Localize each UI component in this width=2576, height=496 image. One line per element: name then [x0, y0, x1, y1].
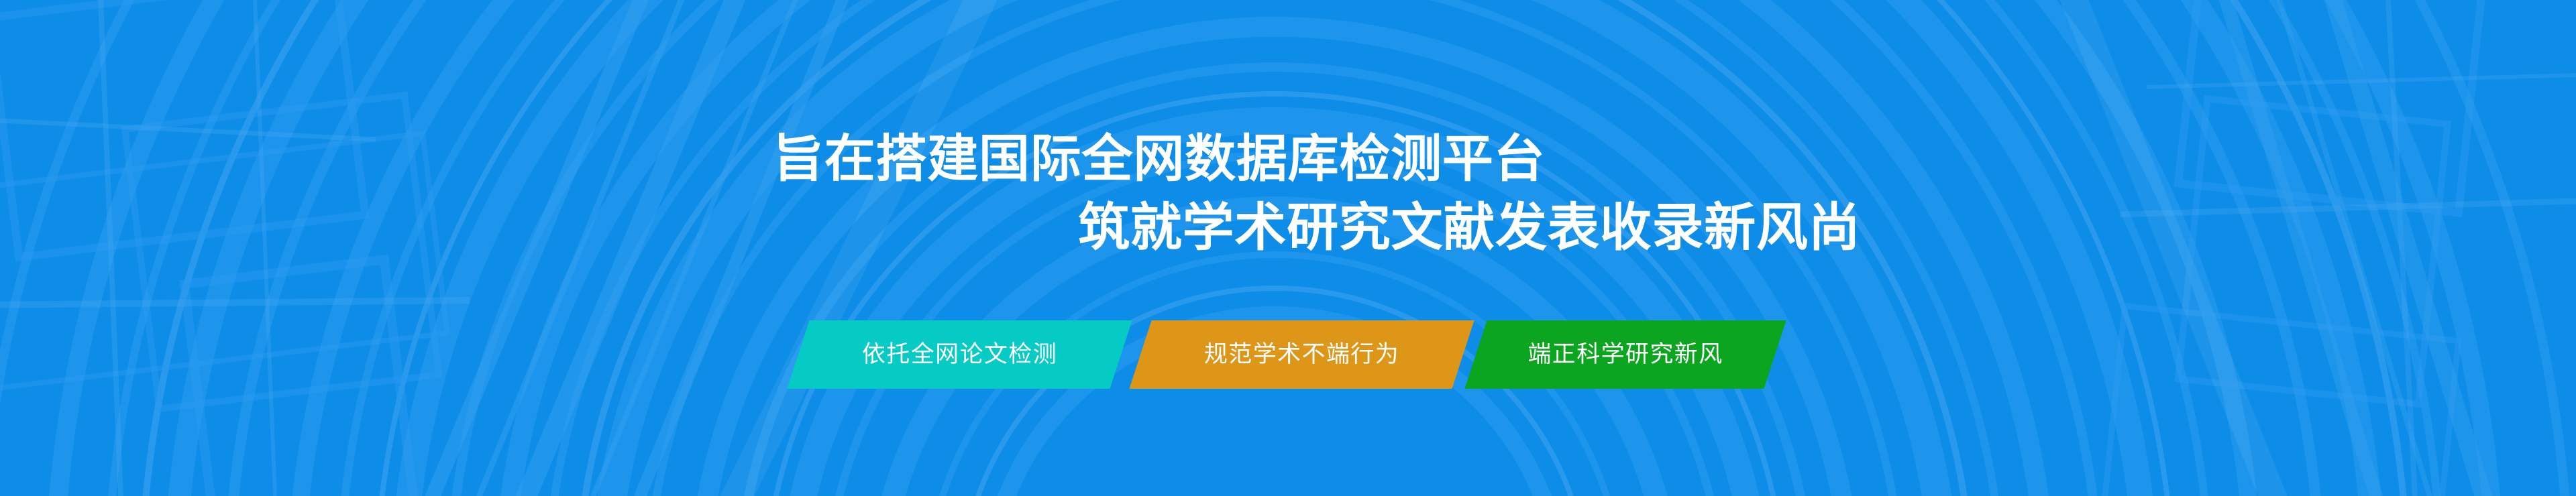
promo-banner: 旨在搭建国际全网数据库检测平台 筑就学术研究文献发表收录新风尚 依托全网论文检测… [0, 0, 2576, 496]
headline-line-2: 筑就学术研究文献发表收录新风尚 [1078, 202, 1861, 254]
banner-content: 旨在搭建国际全网数据库检测平台 筑就学术研究文献发表收录新风尚 依托全网论文检测… [0, 0, 2576, 496]
feature-tag-teal-label: 依托全网论文检测 [798, 320, 1121, 389]
headline-line-1: 旨在搭建国际全网数据库检测平台 [773, 134, 1545, 185]
feature-tag-green-label: 端正科学研究新风 [1476, 320, 1775, 389]
feature-tag-row: 依托全网论文检测 规范学术不端行为 端正科学研究新风 [0, 320, 2576, 389]
feature-tag-orange-label: 规范学术不端行为 [1140, 320, 1463, 389]
